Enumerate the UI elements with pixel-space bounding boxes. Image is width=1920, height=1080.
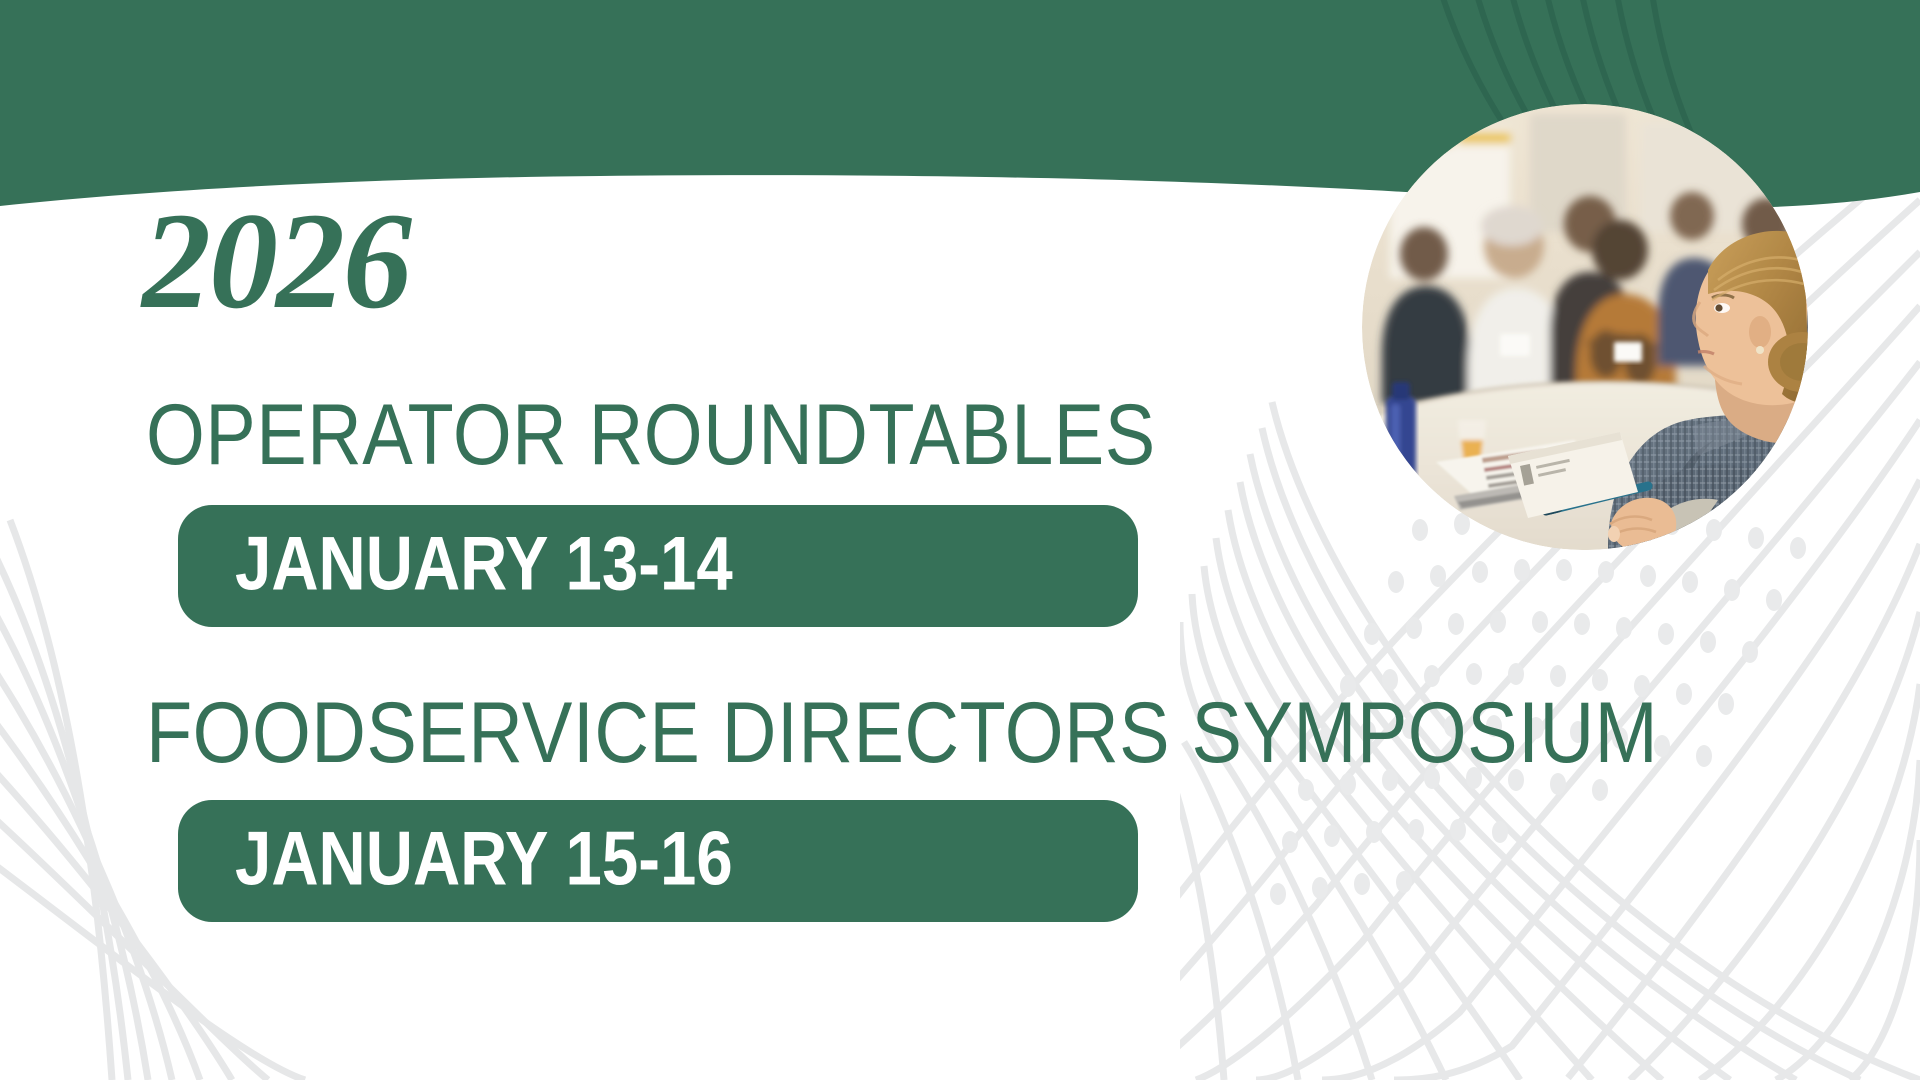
event-title-foodservice-directors-symposium: FOODSERVICE DIRECTORS SYMPOSIUM [146,690,1658,776]
year-heading: 2026 [142,192,410,330]
date-badge-label: JANUARY 15-16 [235,821,733,897]
date-badge-label: JANUARY 13-14 [235,526,733,602]
banner-content: 2026 OPERATOR ROUNDTABLES JANUARY 13-14 … [0,0,1920,1080]
event-title-operator-roundtables: OPERATOR ROUNDTABLES [146,392,1156,478]
date-badge-foodservice-directors-symposium: JANUARY 15-16 [178,800,1138,922]
date-badge-operator-roundtables: JANUARY 13-14 [178,505,1138,627]
event-banner: 2026 OPERATOR ROUNDTABLES JANUARY 13-14 … [0,0,1920,1080]
